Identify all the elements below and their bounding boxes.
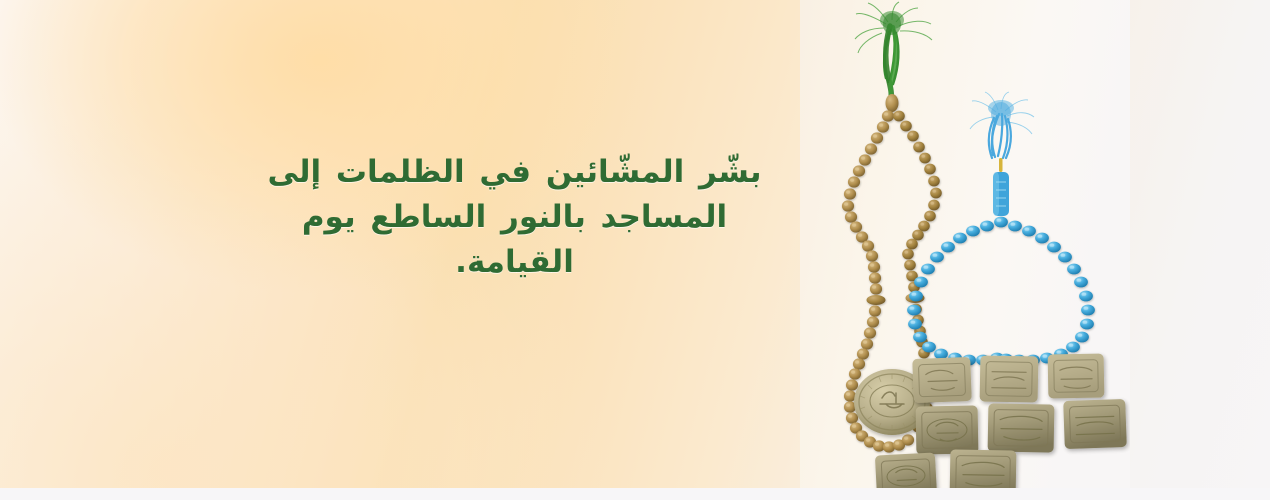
promo-banner: بشّر المشّائين في الظلمات إلى المساجد با… (0, 0, 1270, 500)
clay-tablet (1063, 399, 1127, 449)
clay-tablet (875, 452, 937, 488)
headline-line-2: المساجد بالنور الساطع يوم (257, 195, 772, 240)
clay-tablet (912, 357, 972, 403)
headline-line-3: القيامة. (257, 240, 772, 285)
clay-tablet (916, 405, 979, 454)
clay-tablet (988, 403, 1055, 452)
clay-tablet (1048, 354, 1105, 399)
clay-tablet (950, 449, 1017, 488)
prayer-beads-and-clay-tablets-photo (800, 0, 1130, 488)
headline-line-1: بشّر المشّائين في الظلمات إلى (257, 150, 772, 195)
banner-bottom-strip (0, 488, 1270, 500)
clay-tablet (980, 355, 1039, 402)
banner-headline-block: بشّر المشّائين في الظلمات إلى المساجد با… (257, 150, 772, 285)
